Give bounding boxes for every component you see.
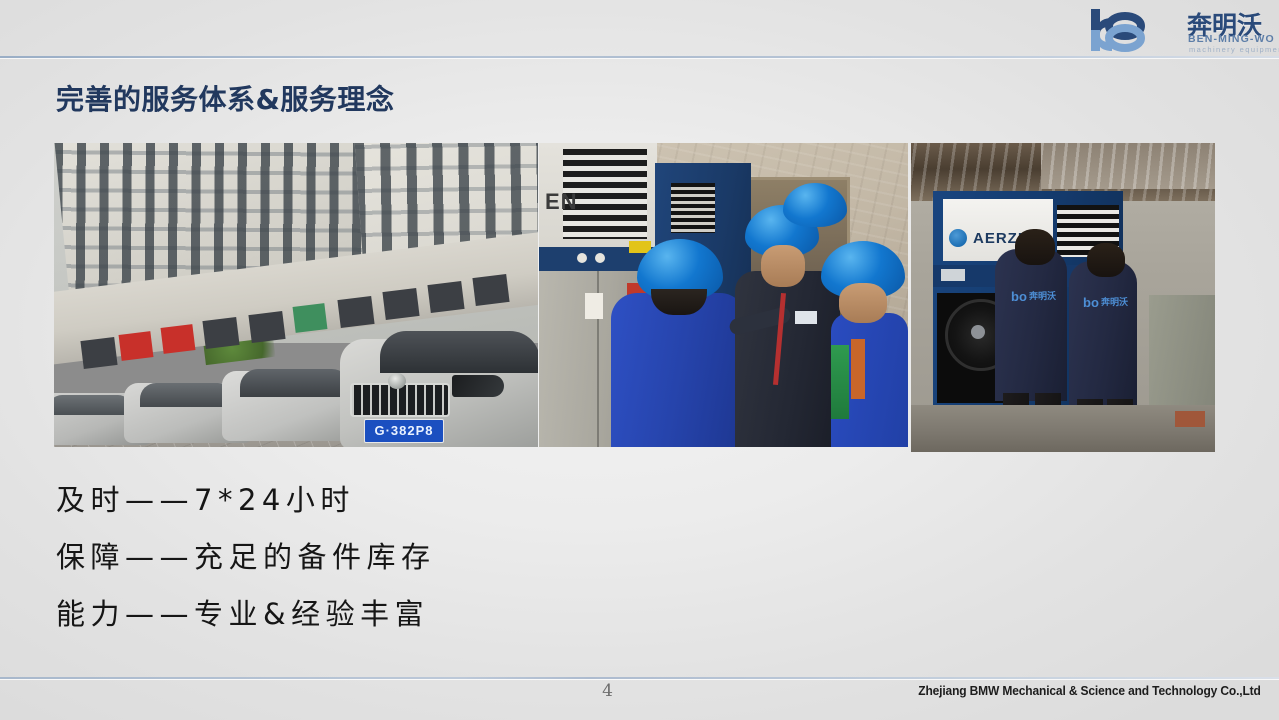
machine-label: EN <box>545 189 578 215</box>
photo-service: EN <box>539 143 908 447</box>
footer-divider <box>0 677 1279 679</box>
list-item: 保障——充足的备件库存 <box>56 529 676 586</box>
footer-company-name: Zhejiang BMW Mechanical & Science and Te… <box>919 684 1261 698</box>
list-item: 能力——专业&经验丰富 <box>56 586 676 643</box>
jacket-logo-chinese: 奔明沃 <box>1029 289 1056 302</box>
slide-header: 奔明沃 BEN-MING-WO machinery equipment <box>0 0 1279 57</box>
aerzen-logo-icon <box>949 229 967 247</box>
header-divider <box>0 56 1279 58</box>
company-logo: 奔明沃 BEN-MING-WO machinery equipment <box>1039 4 1267 54</box>
photo-cars: G·382P8 <box>54 143 538 447</box>
jacket-logo-chinese-2: 奔明沃 <box>1101 295 1128 308</box>
list-item: 及时——7*24小时 <box>56 472 676 529</box>
license-plate: G·382P8 <box>364 419 444 443</box>
jacket-logo-mark: bo <box>1011 290 1027 303</box>
logo-bo-mark <box>1089 8 1189 52</box>
logo-latin-name: BEN-MING-WO <box>1188 33 1275 45</box>
jacket-logo-mark-2: bo <box>1083 296 1099 309</box>
service-principles-list: 及时——7*24小时 保障——充足的备件库存 能力——专业&经验丰富 <box>56 472 676 643</box>
logo-tagline: machinery equipment <box>1189 45 1279 54</box>
photo-install: AERZEN bo 奔明沃 bo 奔明沃 <box>911 143 1215 452</box>
page-title: 完善的服务体系&服务理念 <box>56 78 394 118</box>
